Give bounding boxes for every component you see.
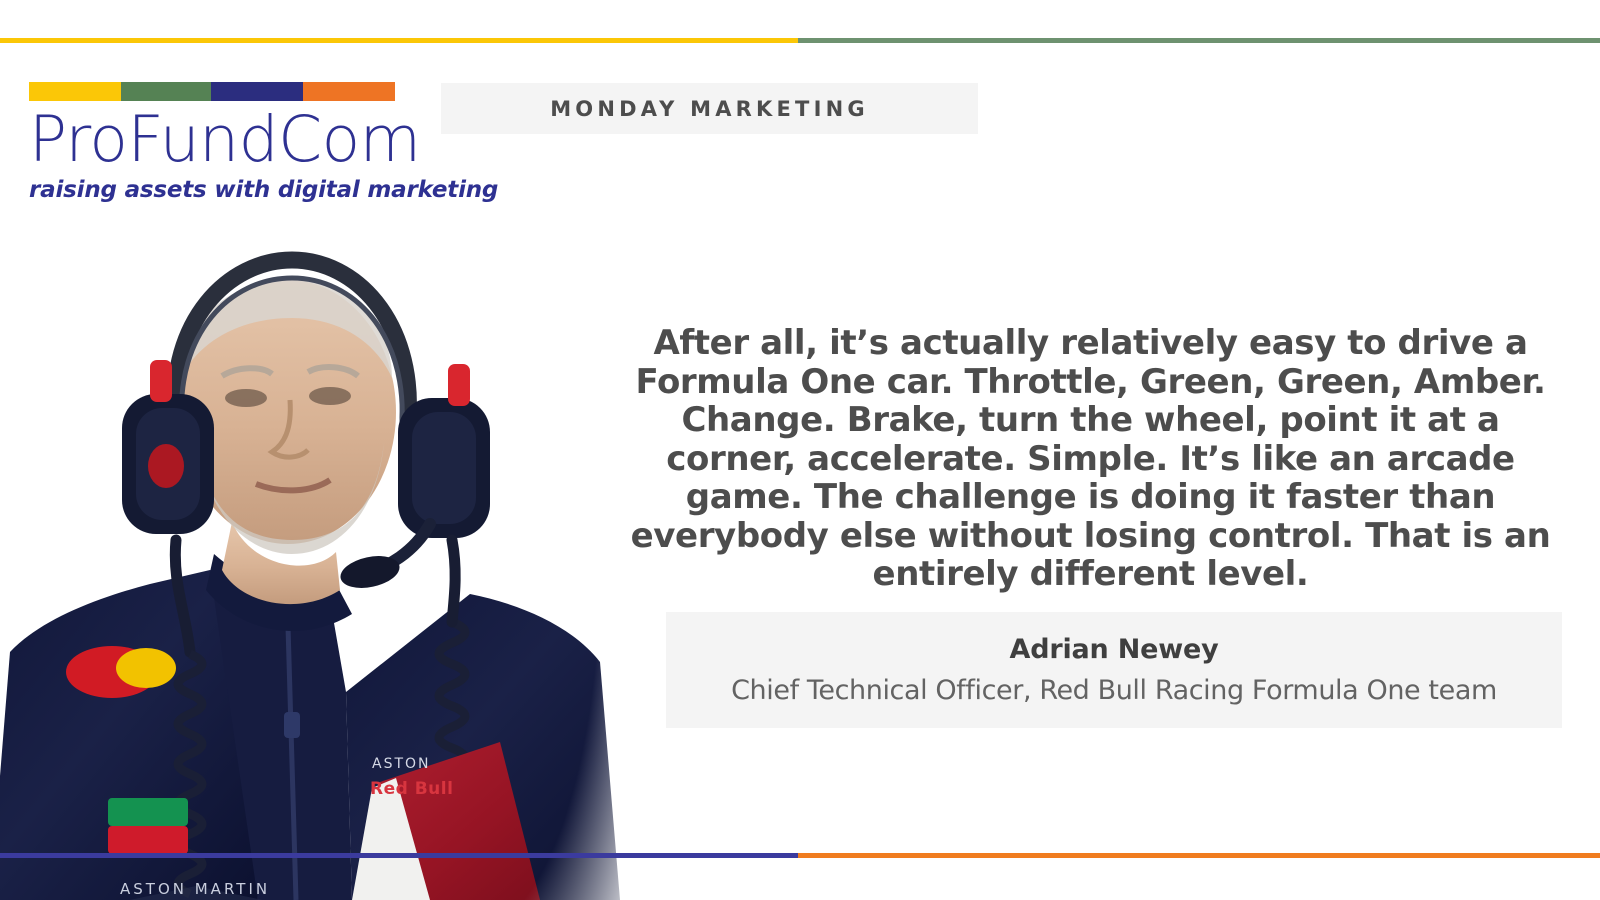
top-rule-green-segment — [798, 38, 1600, 43]
eyebrow-label: MONDAY MARKETING — [550, 97, 869, 121]
attribution-role: Chief Technical Officer, Red Bull Racing… — [731, 673, 1497, 708]
attribution-name: Adrian Newey — [1010, 632, 1219, 667]
attribution-box: Adrian Newey Chief Technical Officer, Re… — [666, 612, 1562, 728]
logo-wordmark: ProFundCom — [29, 107, 395, 173]
photo-edge-fade — [430, 222, 660, 900]
quote-text: After all, it’s actually relatively easy… — [628, 324, 1553, 594]
right-eye — [309, 387, 351, 405]
left-eye — [225, 389, 267, 407]
profundcom-logo: ProFundCom raising assets with digital m… — [29, 82, 395, 203]
svg-text:ASTON: ASTON — [372, 756, 431, 772]
svg-text:ASTON MARTIN: ASTON MARTIN — [120, 880, 270, 898]
red-bull-mark-left — [148, 444, 184, 488]
zip-pull — [284, 712, 300, 738]
logo-color-bars — [29, 82, 395, 101]
sponsor-badge-aston-martin: ASTON MARTIN — [120, 880, 272, 900]
logo-bar-yellow — [29, 82, 121, 101]
bottom-divider-rule — [0, 853, 1600, 858]
logo-tagline: raising assets with digital marketing — [29, 177, 395, 203]
sponsor-badge-tag-heuer — [108, 798, 188, 854]
logo-bar-orange — [303, 82, 395, 101]
portrait-photo: ASTON MARTIN ASTON Red Bull — [0, 222, 660, 900]
top-rule-yellow-segment — [0, 38, 798, 43]
logo-bar-navy — [211, 82, 303, 101]
eyebrow-band: MONDAY MARKETING — [441, 83, 978, 134]
top-divider-rule — [0, 38, 1600, 43]
bottom-rule-orange-segment — [798, 853, 1600, 858]
bottom-rule-navy-segment — [0, 853, 798, 858]
left-cup-red-tab — [150, 360, 172, 402]
quote-slide: ProFundCom raising assets with digital m… — [0, 0, 1600, 900]
logo-bar-green — [121, 82, 211, 101]
